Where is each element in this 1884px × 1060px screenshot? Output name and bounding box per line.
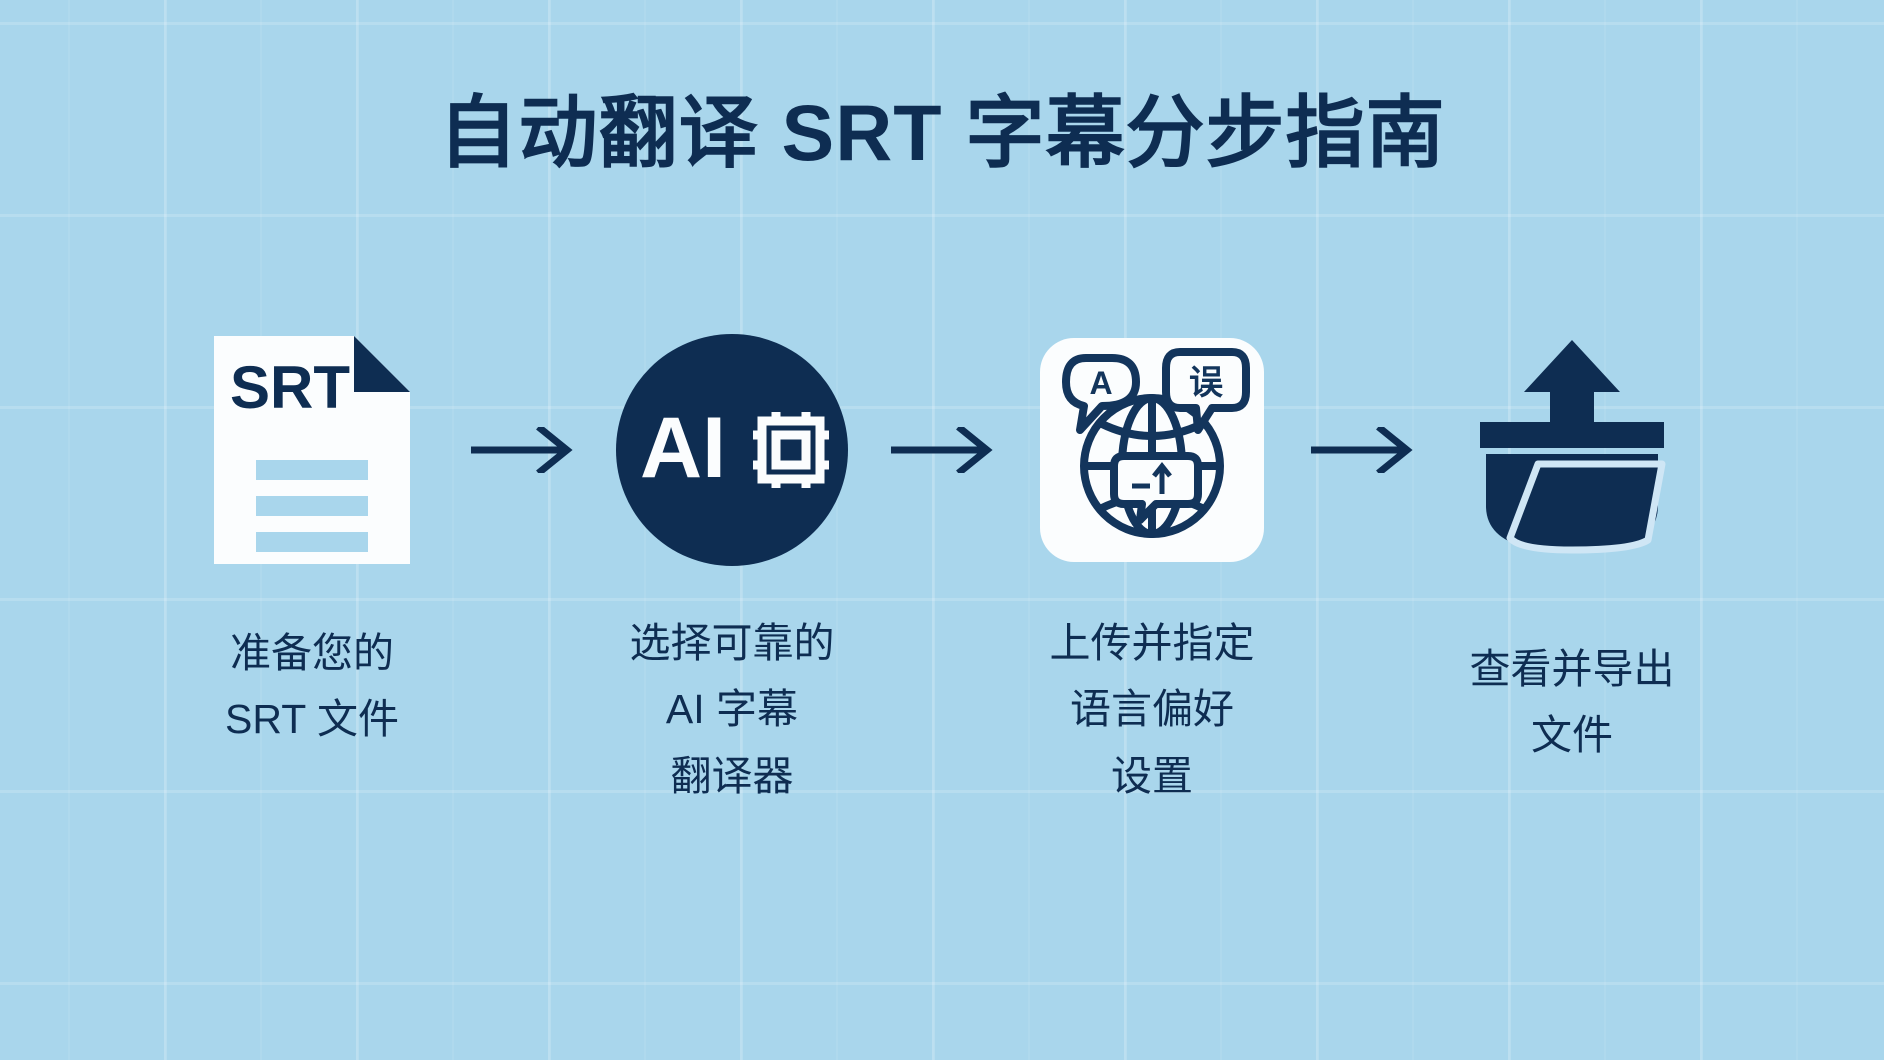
arrow-right-icon <box>469 427 575 473</box>
step-1-prepare-file: SRT 准备您的 SRT 文件 <box>162 330 462 753</box>
export-upload-icon <box>1472 340 1672 560</box>
ai-chip-circle-icon: AI <box>616 334 848 566</box>
globe-translate-icon: A 误 <box>1040 338 1264 562</box>
step-2-caption: 选择可靠的 AI 字幕 翻译器 <box>630 610 835 809</box>
tray-front <box>1510 464 1662 550</box>
srt-document-label: SRT <box>230 354 350 421</box>
globe-translate-icon-box: A 误 <box>1022 330 1282 570</box>
ai-label: AI <box>640 400 726 496</box>
bubble-left-label: A <box>1089 365 1112 401</box>
infographic-canvas: 自动翻译 SRT 字幕分步指南 SRT 准备您的 SRT 文件 <box>0 0 1884 1060</box>
arrow-2-to-3 <box>882 330 1002 570</box>
srt-document-icon-box: SRT <box>182 330 442 570</box>
arrow-right-icon <box>1309 427 1415 473</box>
arrow-1-to-2 <box>462 330 582 570</box>
arrow-right-icon <box>889 427 995 473</box>
srt-document-icon: SRT <box>214 336 410 564</box>
step-4-caption: 查看并导出 文件 <box>1470 636 1675 769</box>
ai-chip-circle-icon-box: AI <box>602 330 862 570</box>
steps-row: SRT 准备您的 SRT 文件 AI <box>60 330 1824 809</box>
step-3-upload-language-prefs: A 误 <box>1002 330 1302 809</box>
arrow-3-to-4 <box>1302 330 1422 570</box>
step-4-review-export: 查看并导出 文件 <box>1422 330 1722 769</box>
tray-lip <box>1480 422 1664 448</box>
step-2-choose-translator: AI 选择可靠的 AI 字幕 翻译器 <box>582 330 882 809</box>
step-3-caption: 上传并指定 语言偏好 设置 <box>1050 610 1255 809</box>
page-title: 自动翻译 SRT 字幕分步指南 <box>0 92 1884 175</box>
step-1-caption: 准备您的 SRT 文件 <box>225 620 399 753</box>
bubble-right-label: 误 <box>1189 364 1223 402</box>
up-arrow-shape <box>1524 340 1620 424</box>
export-upload-icon-box <box>1442 330 1702 570</box>
